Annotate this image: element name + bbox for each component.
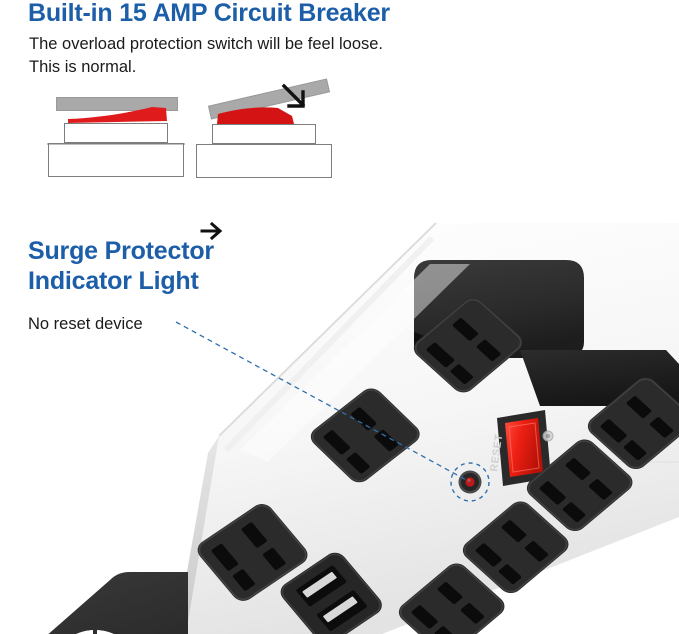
- indicator-light-lens: [465, 477, 474, 486]
- infographic-canvas: Built-in 15 AMP Circuit Breaker The over…: [0, 0, 679, 634]
- description-line-2: This is normal.: [29, 56, 449, 79]
- power-strip-product-photo: RESET: [0, 120, 679, 634]
- circuit-breaker-description: The overload protection switch will be f…: [29, 33, 449, 79]
- description-line-1: The overload protection switch will be f…: [29, 33, 449, 56]
- page-title-circuit-breaker: Built-in 15 AMP Circuit Breaker: [28, 0, 390, 28]
